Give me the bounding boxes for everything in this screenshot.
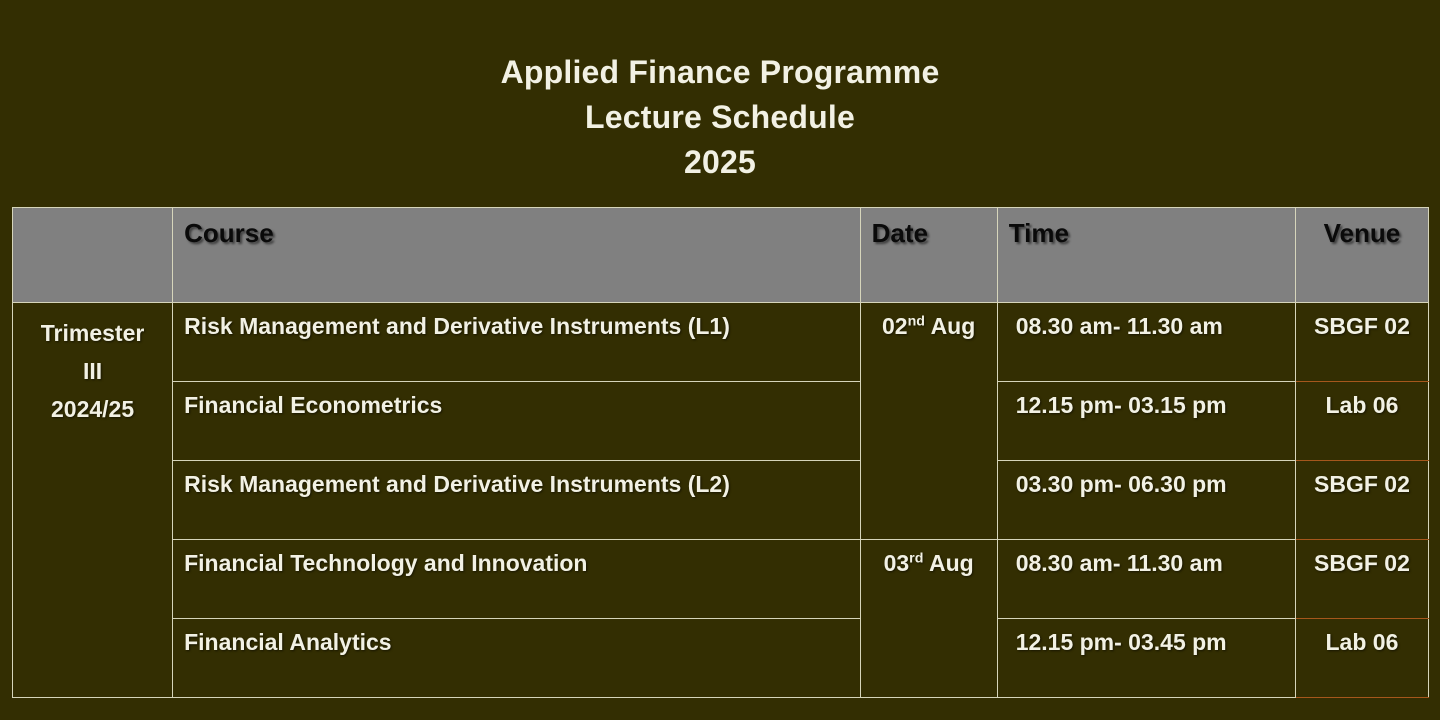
date-month: Aug <box>931 313 976 339</box>
term-line-1: Trimester <box>24 314 161 352</box>
course-cell: Risk Management and Derivative Instrumen… <box>173 461 860 540</box>
table-row: Financial Technology and Innovation 03rd… <box>13 540 1429 619</box>
venue-cell: Lab 06 <box>1295 619 1428 698</box>
column-header-time: Time <box>997 208 1295 303</box>
column-header-term <box>13 208 173 303</box>
date-suffix: rd <box>909 550 923 566</box>
course-cell: Financial Econometrics <box>173 382 860 461</box>
date-month: Aug <box>929 550 974 576</box>
date-number: 03 <box>884 550 910 576</box>
venue-cell: Lab 06 <box>1295 382 1428 461</box>
column-header-venue: Venue <box>1295 208 1428 303</box>
date-cell: 03rd Aug <box>860 540 997 698</box>
venue-cell: SBGF 02 <box>1295 461 1428 540</box>
course-cell: Financial Analytics <box>173 619 860 698</box>
page-title: Applied Finance Programme Lecture Schedu… <box>0 50 1440 185</box>
table-row: Trimester III 2024/25 Risk Management an… <box>13 303 1429 382</box>
course-cell: Financial Technology and Innovation <box>173 540 860 619</box>
table-body: Trimester III 2024/25 Risk Management an… <box>13 303 1429 698</box>
venue-cell: SBGF 02 <box>1295 540 1428 619</box>
date-suffix: nd <box>908 313 925 329</box>
term-cell: Trimester III 2024/25 <box>13 303 173 698</box>
table-row: Financial Analytics 12.15 pm- 03.45 pm L… <box>13 619 1429 698</box>
venue-cell: SBGF 02 <box>1295 303 1428 382</box>
date-cell: 02nd Aug <box>860 303 997 540</box>
time-cell: 03.30 pm- 06.30 pm <box>997 461 1295 540</box>
title-line-subtitle: Lecture Schedule <box>0 95 1440 140</box>
date-number: 02 <box>882 313 908 339</box>
term-line-2: III <box>24 352 161 390</box>
term-line-3: 2024/25 <box>24 390 161 428</box>
title-line-year: 2025 <box>0 140 1440 185</box>
column-header-course: Course <box>173 208 860 303</box>
table-row: Financial Econometrics 12.15 pm- 03.15 p… <box>13 382 1429 461</box>
column-header-date: Date <box>860 208 997 303</box>
table-header-row: Course Date Time Venue <box>13 208 1429 303</box>
lecture-schedule-table: Course Date Time Venue Trimester III 202… <box>12 207 1429 698</box>
table-row: Risk Management and Derivative Instrumen… <box>13 461 1429 540</box>
time-cell: 08.30 am- 11.30 am <box>997 540 1295 619</box>
time-cell: 08.30 am- 11.30 am <box>997 303 1295 382</box>
time-cell: 12.15 pm- 03.45 pm <box>997 619 1295 698</box>
title-line-programme: Applied Finance Programme <box>0 50 1440 95</box>
course-cell: Risk Management and Derivative Instrumen… <box>173 303 860 382</box>
time-cell: 12.15 pm- 03.15 pm <box>997 382 1295 461</box>
table-header: Course Date Time Venue <box>13 208 1429 303</box>
